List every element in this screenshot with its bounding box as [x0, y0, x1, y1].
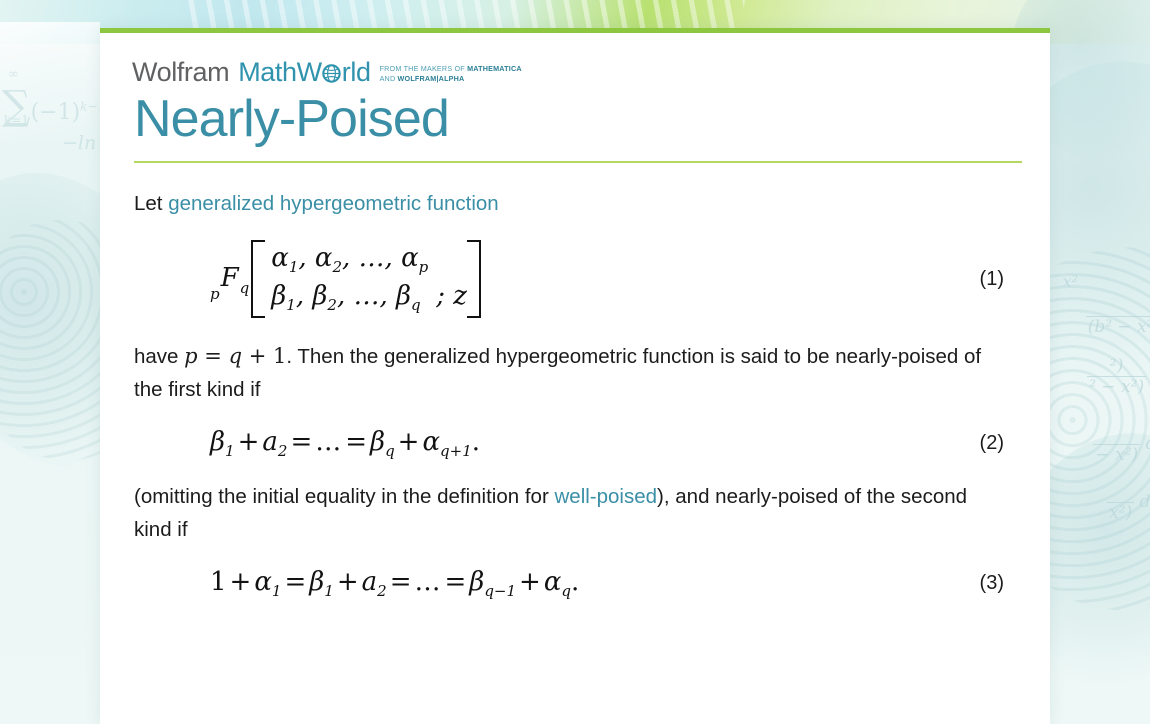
beta-q: β	[396, 281, 411, 311]
beta-1-sub: 1	[286, 296, 296, 314]
inline-p: p	[184, 344, 197, 368]
fraction-3: − x²)	[1093, 424, 1140, 465]
eq2-equals-1: =	[287, 427, 315, 457]
eq3-equals-2: =	[387, 567, 415, 597]
fraction-4: x²)	[1107, 482, 1134, 523]
alpha-parameter-row: α1, α2, …, αp	[271, 244, 428, 276]
eq3-plus-3: +	[516, 567, 544, 597]
equation-3-expression: 1+α1=β1+a2=…=βq−1+αq.	[210, 567, 579, 597]
beta-dots: …	[353, 281, 379, 311]
article-card: Wolfram MathW rld FROM THE MAKERS OF MAT…	[100, 28, 1050, 724]
fraction-1: (b² − x²)	[1086, 296, 1150, 337]
eq3-a-2: a	[362, 567, 378, 597]
eq2-a-2-sub: 2	[278, 442, 288, 460]
alpha-1: α	[271, 243, 289, 273]
mathworld-logo[interactable]: Wolfram MathW rld FROM THE MAKERS OF MAT…	[132, 59, 1004, 86]
tagline-wolframalpha: WOLFRAM|ALPHA	[398, 74, 465, 83]
equation-1-wrapper: pFq α1, α2, …, αp β1, β2, …, βq ; z	[134, 240, 481, 318]
eq2-beta-q: β	[370, 427, 385, 457]
equation-3-row: 1+α1=β1+a2=…=βq−1+αq. (3)	[134, 567, 1004, 600]
beta-1: β	[271, 281, 286, 311]
logo-math-text: Math	[238, 59, 296, 86]
pfq-left-subscript: p	[210, 285, 220, 303]
fraction-2-denominator: ² − x²)	[1087, 377, 1146, 397]
tagline-line-1-prefix: FROM THE MAKERS OF	[380, 64, 468, 73]
equation-2-number: (2)	[980, 432, 1004, 455]
beta-parameter-row: β1, β2, …, βq	[271, 282, 428, 314]
argument-z: z	[453, 281, 467, 311]
semicolon-z-argument: ; z	[434, 281, 467, 318]
fraction-2: ²) ² − x²)	[1087, 356, 1146, 397]
decorative-ln-fragment: −ln	[62, 132, 96, 154]
globe-icon	[322, 61, 341, 80]
logo-tagline: FROM THE MAKERS OF MATHEMATICA AND WOLFR…	[380, 59, 522, 84]
paragraph-have-prefix: have	[134, 345, 184, 368]
alpha-comma-1: ,	[298, 243, 315, 273]
bracket-left	[251, 240, 265, 318]
equation-2-expression: β1+a2=…=βq+αq+1.	[210, 427, 480, 457]
eq2-plus-2: +	[395, 427, 423, 457]
equation-2-wrapper: β1+a2=…=βq+αq+1.	[134, 427, 480, 460]
logo-rld-text: rld	[342, 59, 371, 86]
pfq-right-subscript: q	[240, 279, 250, 297]
eq2-alpha-q1-sub: q+1	[440, 442, 472, 460]
logo-mathworld-text: MathW rld	[238, 59, 370, 86]
equation-1-row: pFq α1, α2, …, αp β1, β2, …, βq ; z (1)	[134, 240, 1004, 318]
summation-upper-limit: ∞	[8, 68, 19, 82]
decorative-integral-fragment-2: ²) ² − x²) dx	[1087, 356, 1150, 397]
page-title: Nearly-Poised	[134, 92, 1004, 147]
bracket-right	[467, 240, 481, 318]
article-body: Let generalized hypergeometric function …	[132, 187, 1004, 601]
pfq-symbol: pFq	[210, 263, 249, 296]
alpha-2-sub: 2	[332, 258, 342, 276]
fraction-4-denominator: x²)	[1107, 503, 1134, 523]
equation-2-row: β1+a2=…=βq+αq+1. (2)	[134, 427, 1004, 460]
fraction-1-numerator	[1086, 296, 1150, 317]
eq2-alpha-q1: α	[422, 427, 440, 457]
eq2-plus-1: +	[235, 427, 263, 457]
equation-3-wrapper: 1+α1=β1+a2=…=βq−1+αq.	[134, 567, 579, 600]
eq3-beta-1: β	[309, 567, 324, 597]
inline-equals: =	[198, 344, 229, 368]
alpha-p-sub: p	[419, 258, 429, 276]
eq3-beta-1-sub: 1	[324, 582, 334, 600]
eq2-ellipsis: …	[315, 427, 342, 457]
semicolon: ;	[436, 281, 453, 311]
eq3-one: 1	[210, 567, 227, 597]
beta-q-sub: q	[411, 296, 421, 314]
title-divider	[134, 161, 1022, 163]
alpha-comma-3: ,	[385, 243, 402, 273]
differential-dx-3: dx	[1146, 434, 1150, 454]
eq3-equals-1: =	[281, 567, 309, 597]
eq3-alpha-q: α	[544, 567, 562, 597]
alpha-2: α	[315, 243, 333, 273]
paragraph-let: Let generalized hypergeometric function	[134, 187, 1004, 220]
tagline-line-2: AND WOLFRAM|ALPHA	[380, 74, 465, 83]
inline-q: q	[229, 344, 242, 368]
paragraph-omitting: (omitting the initial equality in the de…	[134, 480, 1004, 546]
link-well-poised[interactable]: well-poised	[554, 485, 657, 508]
equation-1-number: (1)	[980, 268, 1004, 291]
eq3-beta-q1-sub: q−1	[484, 582, 516, 600]
eq3-period: .	[571, 567, 579, 597]
hypergeometric-parameter-rows: α1, α2, …, αp β1, β2, …, βq	[265, 240, 434, 318]
eq2-a-2: a	[262, 427, 278, 457]
alpha-p: α	[401, 243, 419, 273]
alpha-comma-2: ,	[342, 243, 359, 273]
eq2-beta-1: β	[210, 427, 225, 457]
logo-wolfram-text: Wolfram	[132, 59, 229, 86]
decorative-integral-fragment-3: − x²) dx	[1093, 424, 1150, 465]
pfq-F: F	[221, 263, 239, 293]
equation-3-number: (3)	[980, 572, 1004, 595]
decorative-integral-fragment-4: x²) dx	[1107, 482, 1150, 523]
beta-comma-2: ,	[337, 281, 354, 311]
decorative-integral-fragment-1: (b² − x²) dx	[1086, 296, 1150, 337]
decorative-x-squared-fragment: x²	[1063, 272, 1078, 291]
fraction-3-numerator	[1093, 424, 1140, 445]
paragraph-omitting-prefix: (omitting the initial equality in the de…	[134, 485, 554, 508]
eq3-plus-2: +	[334, 567, 362, 597]
fraction-4-numerator	[1107, 482, 1134, 503]
decorative-summation-formula: ∑(−1)k−1 ∞ k=1	[2, 84, 105, 128]
article-card-inner: Wolfram MathW rld FROM THE MAKERS OF MAT…	[100, 33, 1050, 600]
eq2-beta-q-sub: q	[385, 442, 395, 460]
paragraph-let-prefix: Let	[134, 192, 168, 215]
fraction-3-denominator: − x²)	[1093, 445, 1140, 465]
tagline-mathematica: MATHEMATICA	[467, 64, 522, 73]
inline-math-p-equals-q-plus-1: p = q + 1	[184, 344, 286, 368]
alpha-dots: …	[359, 243, 385, 273]
link-generalized-hypergeometric-function[interactable]: generalized hypergeometric function	[168, 192, 498, 215]
logo-w-text: W	[297, 59, 322, 86]
eq2-period: .	[472, 427, 480, 457]
eq3-a-2-sub: 2	[377, 582, 387, 600]
eq3-equals-3: =	[441, 567, 469, 597]
fraction-2-numerator: ²)	[1087, 356, 1146, 377]
eq3-alpha-1: α	[254, 567, 272, 597]
eq2-beta-1-sub: 1	[225, 442, 235, 460]
alpha-1-sub: 1	[289, 258, 299, 276]
tagline-line-1: FROM THE MAKERS OF MATHEMATICA	[380, 64, 522, 73]
fraction-1-denominator: (b² − x²)	[1086, 317, 1150, 337]
eq3-beta-q1: β	[469, 567, 484, 597]
eq2-equals-2: =	[342, 427, 370, 457]
beta-comma-3: ,	[379, 281, 396, 311]
summation-term: (−1)	[31, 100, 81, 125]
beta-2-sub: 2	[327, 296, 337, 314]
eq3-plus-1: +	[227, 567, 255, 597]
paragraph-have-pq: have p = q + 1. Then the generalized hyp…	[134, 339, 1004, 406]
tagline-line-2-prefix: AND	[380, 74, 398, 83]
summation-lower-limit: k=1	[4, 114, 29, 127]
inline-plus: +	[242, 344, 273, 368]
differential-dx-4: dx	[1140, 492, 1150, 512]
eq3-ellipsis: …	[414, 567, 441, 597]
eq3-alpha-q-sub: q	[561, 582, 571, 600]
beta-comma-1: ,	[296, 281, 313, 311]
equation-1-expression: pFq α1, α2, …, αp β1, β2, …, βq ; z	[210, 240, 481, 318]
inline-one: 1	[273, 344, 286, 368]
beta-2: β	[312, 281, 327, 311]
